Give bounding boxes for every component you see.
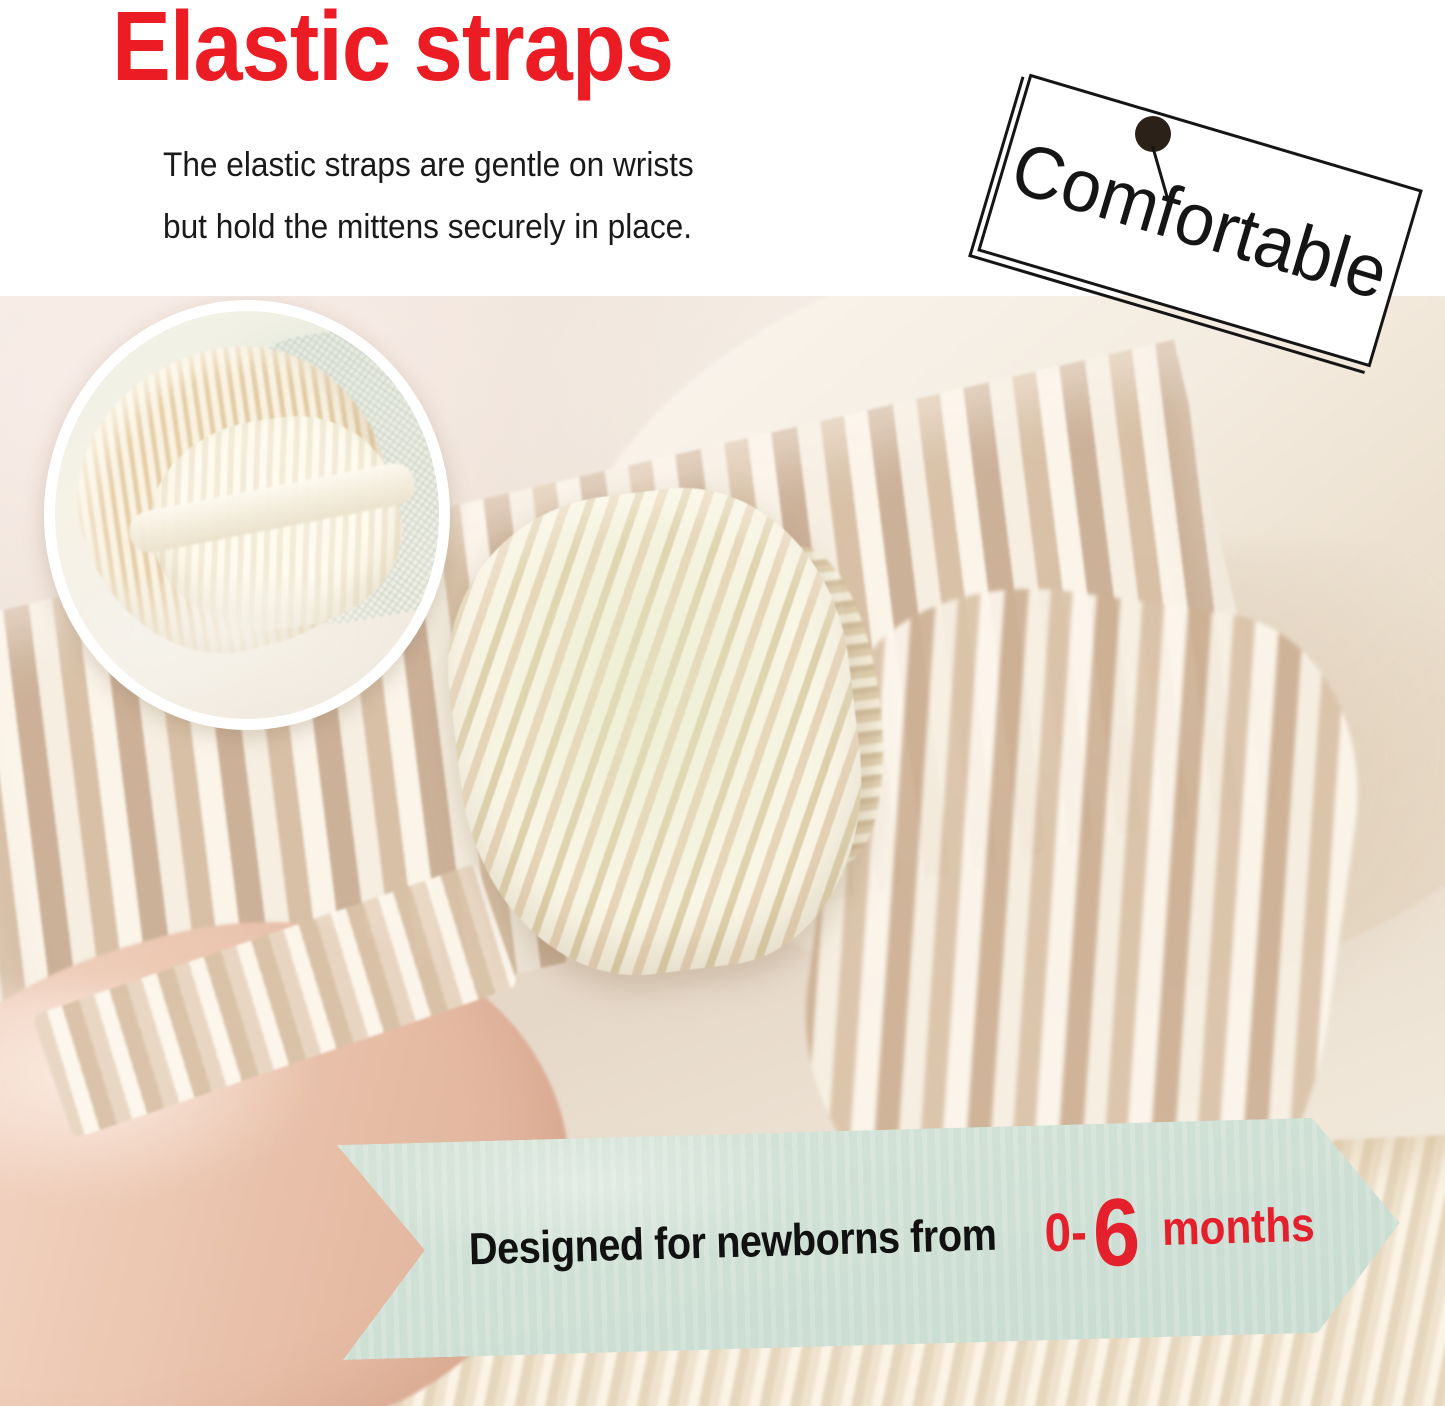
ribbon-text-group: Designed for newborns from 0- 6 months [337, 1115, 1403, 1360]
comfortable-badge: Comfortable [975, 88, 1445, 418]
ribbon-graphic: Designed for newborns from 0- 6 months [337, 1115, 1403, 1360]
pushpin-needle [1151, 146, 1171, 206]
subtitle-line-1: The elastic straps are gentle on wrists [163, 134, 694, 196]
subtitle-block: The elastic straps are gentle on wrists … [163, 134, 694, 258]
pushpin-icon [1135, 116, 1205, 206]
banner-main-text: Designed for newborns from [468, 1208, 997, 1275]
age-range-banner: Designed for newborns from 0- 6 months [340, 1145, 1445, 1400]
page-title: Elastic straps [112, 0, 673, 98]
circular-detail-inset [44, 300, 450, 730]
banner-age-six: 6 [1092, 1195, 1141, 1273]
banner-age-zero: 0- [1044, 1201, 1088, 1264]
product-feature-page: Elastic straps The elastic straps are ge… [0, 0, 1445, 1406]
subtitle-line-2: but hold the mittens securely in place. [163, 196, 694, 258]
inset-soft-blur [65, 581, 405, 711]
banner-months-label: months [1161, 1198, 1315, 1257]
